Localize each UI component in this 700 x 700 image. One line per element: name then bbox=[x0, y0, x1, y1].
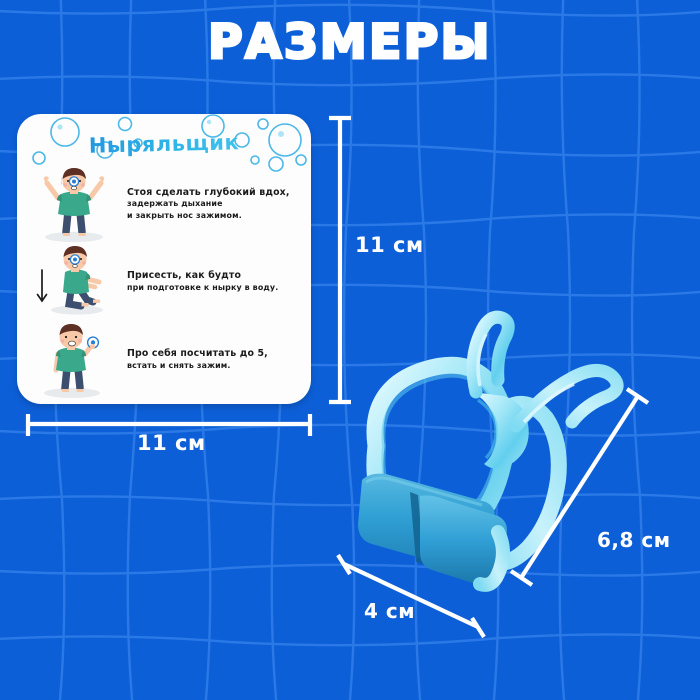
dimension-label-card-height: 11 см bbox=[355, 234, 424, 257]
dimension-label-card-width: 11 см bbox=[137, 432, 206, 455]
instruction-card: Ныряльщик bbox=[17, 114, 311, 404]
boy-arms-raised-icon bbox=[25, 166, 123, 244]
instruction-step: Стоя сделать глубокий вдох, задержать ды… bbox=[25, 166, 303, 244]
step-line: Присесть, как будто bbox=[127, 270, 278, 282]
instruction-step-text: Присесть, как будто при подготовке к ныр… bbox=[123, 270, 278, 293]
card-title: Ныряльщик bbox=[17, 129, 311, 160]
instruction-step: Присесть, как будто при подготовке к ныр… bbox=[25, 244, 303, 322]
nose-clip-product-photo bbox=[346, 296, 642, 608]
step-line: при подготовке к нырку в воду. bbox=[127, 282, 278, 294]
boy-holding-noseclip-icon bbox=[25, 322, 123, 400]
step-line: и закрыть нос зажимом. bbox=[127, 210, 290, 222]
instruction-step: Про себя посчитать до 5, встать и снять … bbox=[25, 322, 303, 400]
step-line: задержать дыхание bbox=[127, 198, 290, 210]
step-line: встать и снять зажим. bbox=[127, 360, 268, 372]
instruction-step-text: Про себя посчитать до 5, встать и снять … bbox=[123, 348, 268, 371]
boy-crouching-down-arrow-icon bbox=[25, 244, 123, 322]
product-size-infographic: РАЗМЕРЫ Ныряль bbox=[0, 0, 700, 700]
instruction-steps: Стоя сделать глубокий вдох, задержать ды… bbox=[25, 166, 303, 394]
step-line: Про себя посчитать до 5, bbox=[127, 348, 268, 360]
page-title: РАЗМЕРЫ bbox=[0, 16, 700, 70]
instruction-step-text: Стоя сделать глубокий вдох, задержать ды… bbox=[123, 187, 290, 222]
dimension-label-clip-diagonal: 6,8 см bbox=[597, 529, 671, 552]
dimension-label-clip-width: 4 см bbox=[364, 600, 415, 623]
step-line: Стоя сделать глубокий вдох, bbox=[127, 187, 290, 199]
